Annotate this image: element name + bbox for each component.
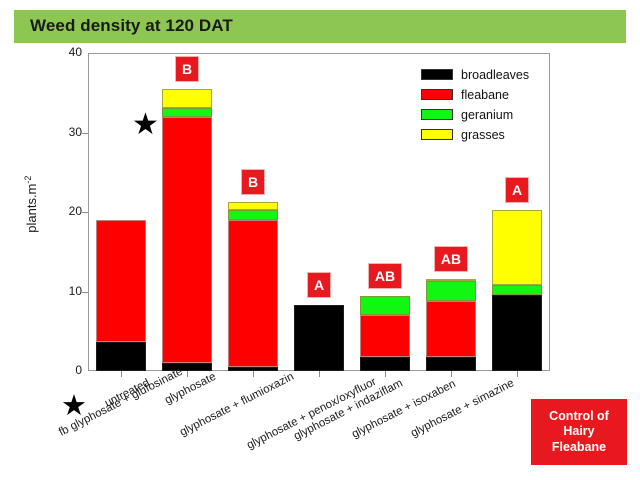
legend-item: broadleaves [421, 66, 551, 83]
bar-segment-geranium [360, 296, 410, 315]
legend-label: geranium [461, 108, 513, 122]
y-axis-title-exponent: -2 [23, 176, 33, 184]
bar-segment-fleabane [426, 301, 476, 357]
page-title: Weed density at 120 DAT [30, 16, 233, 36]
callout-line-3: Fleabane [552, 440, 606, 456]
bar-segment-broadleaves [492, 295, 542, 371]
y-tick-label: 40 [52, 45, 82, 59]
legend-swatch-grasses [421, 129, 453, 140]
bar-segment-grasses [162, 89, 212, 108]
bar-segment-broadleaves [426, 357, 476, 371]
significance-letter-badge: B [241, 169, 265, 195]
legend-swatch-fleabane [421, 89, 453, 100]
bar-segment-fleabane [96, 220, 146, 342]
chart-page: Weed density at 120 DAT plants.m-2 01020… [0, 0, 640, 480]
bar-segment-fleabane [228, 220, 278, 367]
x-tick-mark [187, 371, 188, 377]
bar-stack[interactable] [294, 305, 344, 371]
significance-letter-badge: AB [434, 246, 468, 272]
bar-segment-grasses [426, 279, 476, 281]
bar-segment-geranium [492, 285, 542, 295]
significance-letter-badge: B [175, 56, 199, 82]
legend-label: fleabane [461, 88, 509, 102]
bar-stack[interactable] [492, 210, 542, 371]
y-tick-label: 0 [52, 363, 82, 377]
legend-swatch-broadleaves [421, 69, 453, 80]
legend-item: fleabane [421, 86, 551, 103]
bar-segment-broadleaves [360, 357, 410, 371]
x-tick-mark [451, 371, 452, 377]
legend-swatch-geranium [421, 109, 453, 120]
x-tick-mark [319, 371, 320, 377]
y-tick-label: 20 [52, 204, 82, 218]
callout-line-2: Hairy [563, 424, 594, 440]
x-tick-mark [517, 371, 518, 377]
bar-segment-grasses [228, 202, 278, 211]
bar-segment-geranium [228, 210, 278, 220]
bar-stack[interactable] [360, 296, 410, 371]
bar-stack[interactable] [426, 279, 476, 371]
plot-star-icon: ★ [132, 110, 159, 140]
bar-segment-broadleaves [96, 342, 146, 371]
legend-label: broadleaves [461, 68, 529, 82]
callout-line-1: Control of [549, 409, 609, 425]
y-axis-title: plants.m-2 [23, 149, 39, 259]
legend-item: grasses [421, 126, 551, 143]
legend-label: grasses [461, 128, 505, 142]
bar-segment-grasses [492, 210, 542, 285]
legend: broadleavesfleabanegeraniumgrasses [421, 66, 551, 146]
bar-segment-fleabane [360, 315, 410, 356]
x-tick-mark [121, 371, 122, 377]
legend-item: geranium [421, 106, 551, 123]
header-banner: Weed density at 120 DAT [14, 10, 626, 43]
significance-letter-badge: AB [368, 263, 402, 289]
bar-stack[interactable] [96, 220, 146, 371]
significance-letter-badge: A [505, 177, 529, 203]
significance-letter-badge: A [307, 272, 331, 298]
y-tick-label: 30 [52, 125, 82, 139]
bar-segment-broadleaves [294, 305, 344, 371]
y-tick-label: 10 [52, 284, 82, 298]
bar-stack[interactable] [228, 202, 278, 371]
bar-segment-geranium [426, 281, 476, 301]
bar-segment-fleabane [162, 117, 212, 363]
bar-segment-broadleaves [228, 367, 278, 371]
x-tick-mark [253, 371, 254, 377]
bar-segment-geranium [162, 108, 212, 117]
x-tick-label: glyphosate + simazine [409, 377, 516, 439]
x-tick-mark [385, 371, 386, 377]
bar-stack[interactable] [162, 89, 212, 371]
y-axis-title-text: plants.m [24, 184, 39, 233]
callout-box: Control of Hairy Fleabane [531, 399, 627, 465]
